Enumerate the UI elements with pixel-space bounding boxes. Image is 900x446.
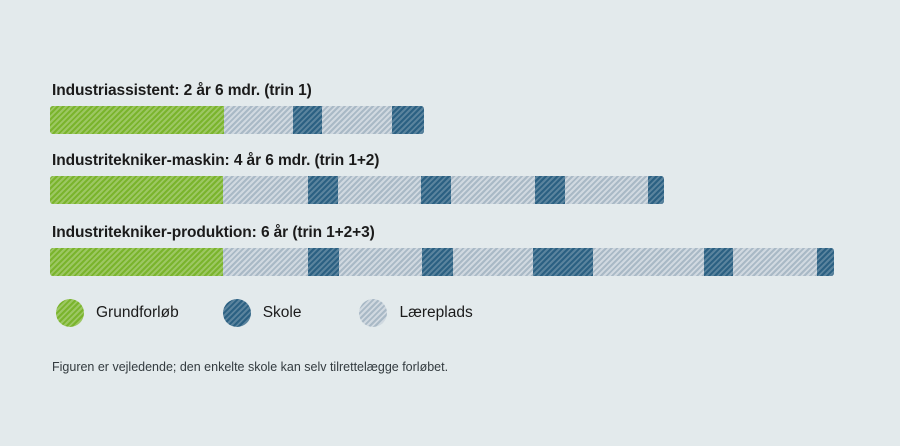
timeline-bar bbox=[50, 176, 664, 204]
segment-skole bbox=[648, 176, 664, 204]
segment-skole bbox=[533, 248, 593, 276]
segment-laereplads bbox=[451, 176, 535, 204]
bar-group: Industriassistent: 2 år 6 mdr. (trin 1) bbox=[50, 82, 424, 134]
bar-group: Industritekniker-maskin: 4 år 6 mdr. (tr… bbox=[50, 152, 664, 204]
segment-skole bbox=[422, 248, 453, 276]
legend-label: Læreplads bbox=[399, 304, 472, 322]
timeline-bar bbox=[50, 106, 424, 134]
chart-legend: GrundforløbSkoleLæreplads bbox=[56, 299, 473, 327]
segment-grundforlob bbox=[50, 248, 223, 276]
segment-laereplads bbox=[224, 106, 293, 134]
bar-title: Industritekniker-produktion: 6 år (trin … bbox=[52, 224, 834, 242]
legend-item: Skole bbox=[223, 299, 302, 327]
segment-skole bbox=[308, 176, 338, 204]
segment-laereplads bbox=[593, 248, 704, 276]
segment-skole bbox=[308, 248, 339, 276]
bar-title: Industritekniker-maskin: 4 år 6 mdr. (tr… bbox=[52, 152, 664, 170]
bar-title: Industriassistent: 2 år 6 mdr. (trin 1) bbox=[52, 82, 424, 100]
segment-laereplads bbox=[339, 248, 422, 276]
figure-footnote: Figuren er vejledende; den enkelte skole… bbox=[52, 360, 448, 374]
legend-swatch-skole bbox=[223, 299, 251, 327]
segment-laereplads bbox=[453, 248, 533, 276]
legend-swatch-grundforlob bbox=[56, 299, 84, 327]
segment-skole bbox=[535, 176, 565, 204]
segment-laereplads bbox=[338, 176, 421, 204]
segment-laereplads bbox=[733, 248, 817, 276]
segment-laereplads bbox=[223, 176, 308, 204]
segment-skole bbox=[817, 248, 834, 276]
segment-laereplads bbox=[565, 176, 648, 204]
legend-swatch-laereplads bbox=[359, 299, 387, 327]
segment-grundforlob bbox=[50, 176, 223, 204]
segment-skole bbox=[704, 248, 733, 276]
segment-grundforlob bbox=[50, 106, 224, 134]
legend-item: Læreplads bbox=[359, 299, 472, 327]
segment-skole bbox=[293, 106, 322, 134]
legend-label: Skole bbox=[263, 304, 302, 322]
legend-item: Grundforløb bbox=[56, 299, 179, 327]
legend-label: Grundforløb bbox=[96, 304, 179, 322]
segment-laereplads bbox=[322, 106, 392, 134]
segment-laereplads bbox=[223, 248, 308, 276]
bar-group: Industritekniker-produktion: 6 år (trin … bbox=[50, 224, 834, 276]
timeline-bar bbox=[50, 248, 834, 276]
segment-skole bbox=[421, 176, 451, 204]
segment-skole bbox=[392, 106, 424, 134]
figure-canvas: Industriassistent: 2 år 6 mdr. (trin 1)I… bbox=[0, 0, 900, 446]
